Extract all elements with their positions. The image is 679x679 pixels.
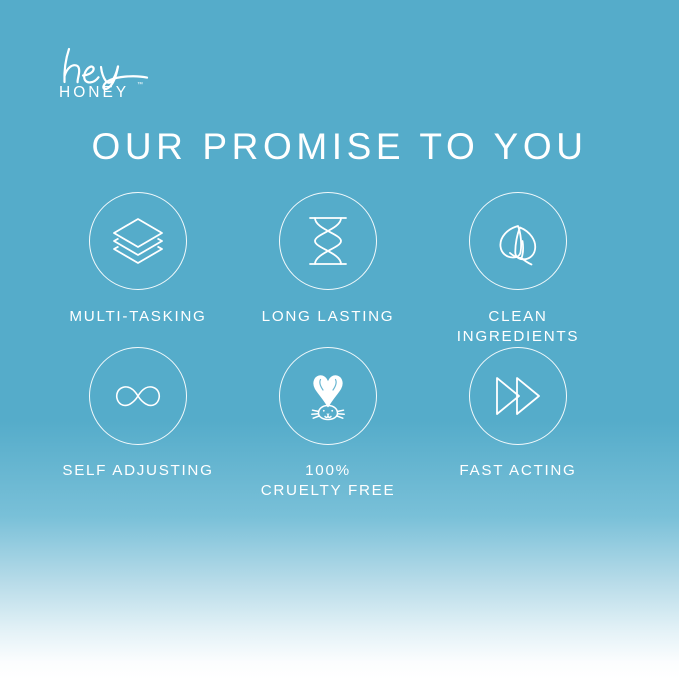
brand-logo[interactable]: HONEY ™ — [57, 46, 207, 108]
promise-item-fast-acting[interactable]: FAST ACTING — [423, 347, 613, 501]
promise-row-2: SELF ADJUSTING — [0, 347, 679, 501]
trademark-symbol: ™ — [137, 82, 143, 88]
hourglass-icon — [297, 210, 359, 272]
icon-circle — [89, 347, 187, 445]
infinity-icon — [107, 365, 169, 427]
promise-item-multi-tasking[interactable]: MULTI-TASKING — [43, 192, 233, 347]
leaves-icon — [487, 210, 549, 272]
icon-circle — [469, 347, 567, 445]
brand-wordmark: HONEY — [59, 85, 129, 101]
bunny-heart-icon — [297, 365, 359, 427]
icon-circle — [469, 192, 567, 290]
promise-item-long-lasting[interactable]: LONG LASTING — [233, 192, 423, 347]
icon-circle — [279, 192, 377, 290]
promise-item-cruelty-free[interactable]: 100% CRUELTY FREE — [233, 347, 423, 501]
icon-circle — [279, 347, 377, 445]
promise-label: SELF ADJUSTING — [62, 461, 213, 481]
fast-forward-icon — [487, 365, 549, 427]
promise-item-self-adjusting[interactable]: SELF ADJUSTING — [43, 347, 233, 501]
promise-label: MULTI-TASKING — [69, 307, 206, 327]
icon-circle — [89, 192, 187, 290]
promise-card: HONEY ™ OUR PROMISE TO YOU MULTI-TASKING — [0, 0, 679, 679]
promise-row-1: MULTI-TASKING LONG LASTING — [0, 192, 679, 347]
stacked-layers-icon — [107, 210, 169, 272]
promise-label: LONG LASTING — [262, 307, 395, 327]
page-title: OUR PROMISE TO YOU — [0, 126, 679, 169]
promise-item-clean-ingredients[interactable]: CLEAN INGREDIENTS — [423, 192, 613, 347]
promise-grid: MULTI-TASKING LONG LASTING — [0, 192, 679, 501]
promise-label: 100% CRUELTY FREE — [261, 461, 396, 501]
promise-label: FAST ACTING — [459, 461, 576, 481]
promise-label: CLEAN INGREDIENTS — [457, 307, 580, 347]
